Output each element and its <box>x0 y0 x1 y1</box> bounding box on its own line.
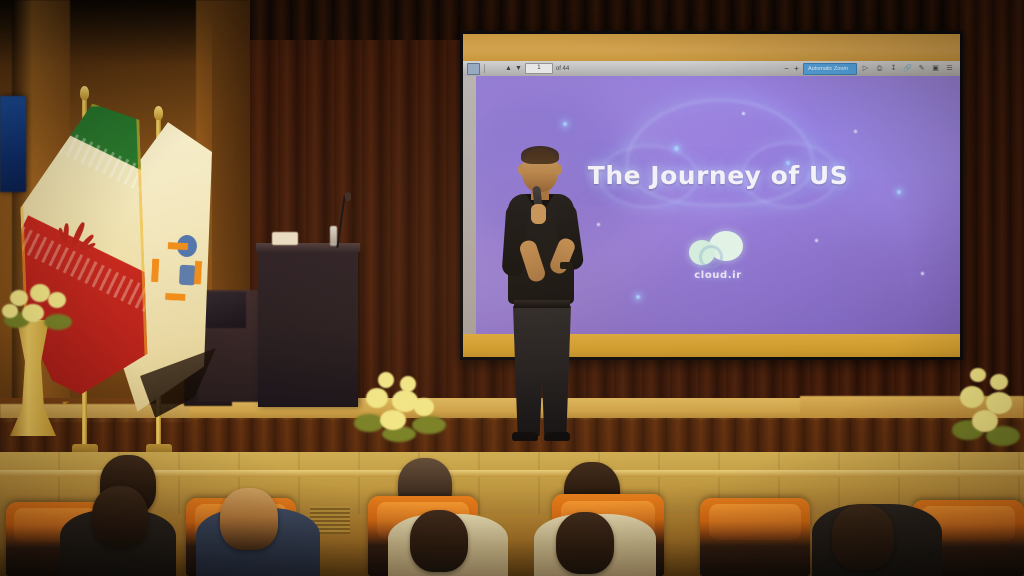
flagpole-finial-icon <box>154 106 163 120</box>
zoom-level-select[interactable]: Automatic Zoom <box>803 63 857 75</box>
presenter-trousers <box>513 306 571 436</box>
presentation-mode-icon[interactable]: ▷ <box>861 64 870 73</box>
presenter-shoe <box>544 432 570 441</box>
toolbar-divider <box>484 64 485 73</box>
podium <box>258 249 358 407</box>
attendee-head <box>220 488 278 550</box>
chevron-down-icon[interactable]: ▼ <box>515 65 522 72</box>
print-icon[interactable]: ⎙ <box>875 64 884 73</box>
presenter-hand <box>531 204 546 224</box>
projected-desktop-top <box>463 34 960 61</box>
presenter-belt <box>514 300 570 308</box>
toolbar-tools-group[interactable]: ▷ ⎙ ↧ 🔗 ✎ ▣ ☰ <box>861 64 956 73</box>
draw-icon[interactable]: ▣ <box>931 64 940 73</box>
attendee-head <box>832 504 894 570</box>
bouquet-left <box>0 284 78 344</box>
pdf-viewer-toolbar[interactable]: ▲ ▼ 1 of 44 − + Automatic Zoom ▷ ⎙ ↧ 🔗 ✎ <box>463 61 960 76</box>
sidebar-toggle-icon[interactable] <box>467 63 480 75</box>
auditorium-seat <box>700 498 810 576</box>
zoom-controls[interactable]: − + Automatic Zoom <box>783 63 857 75</box>
presenter-shoe <box>512 432 538 441</box>
bouquet-center <box>352 372 448 444</box>
flagpole-finial-icon <box>80 86 89 100</box>
confidence-monitor <box>200 292 246 328</box>
attendee-head <box>556 512 614 574</box>
minus-icon[interactable]: − <box>783 64 790 73</box>
podium-microphone-head-icon <box>345 192 351 201</box>
page-navigation[interactable]: ▲ ▼ 1 of 44 <box>505 63 569 74</box>
wall-monitor <box>0 96 26 192</box>
conference-photo-scene: ▲ ▼ 1 of 44 − + Automatic Zoom ▷ ⎙ ↧ 🔗 ✎ <box>0 0 1024 576</box>
star-particle <box>854 130 857 133</box>
podium-papers <box>272 232 298 245</box>
tools-menu-icon[interactable]: ☰ <box>945 64 954 73</box>
download-icon[interactable]: ↧ <box>889 64 898 73</box>
page-total-label: of 44 <box>556 66 569 72</box>
attendee-head <box>92 486 148 548</box>
cloud-icon <box>689 231 747 267</box>
organization-logo-icon <box>147 233 198 291</box>
background-cloud-outline-icon <box>626 99 814 206</box>
bouquet-right <box>952 368 1024 454</box>
wristwatch <box>560 262 573 269</box>
text-select-icon[interactable]: ✎ <box>917 64 926 73</box>
plus-icon[interactable]: + <box>793 64 800 73</box>
pdf-sidebar-strip <box>463 61 476 357</box>
chevron-up-icon[interactable]: ▲ <box>505 65 512 72</box>
attendee-head <box>410 510 468 572</box>
bookmark-icon[interactable]: 🔗 <box>903 64 912 73</box>
presenter-hair <box>521 146 559 164</box>
presenter <box>498 148 590 448</box>
page-number-input[interactable]: 1 <box>525 63 553 74</box>
